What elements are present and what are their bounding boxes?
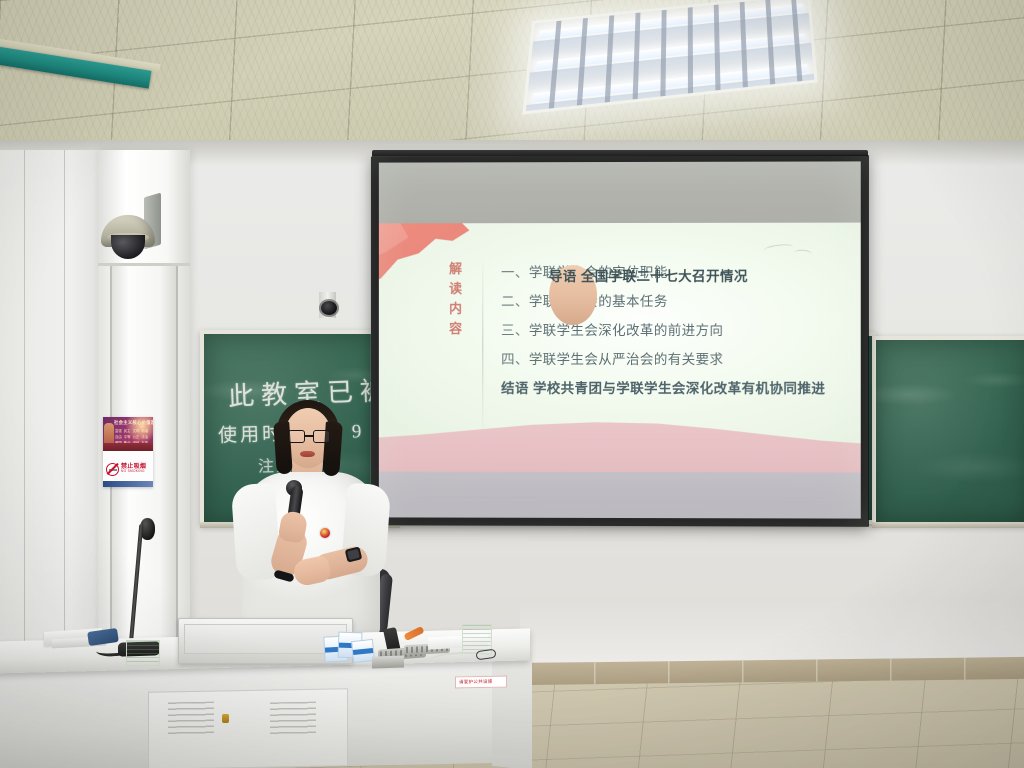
glasses-lens-left (288, 430, 305, 443)
wall-lower-highlight (520, 600, 1024, 662)
chalk-tray (872, 522, 1024, 528)
mouth (300, 451, 315, 457)
no-smoking-icon (106, 463, 119, 476)
core-value-word: 文明 (133, 428, 140, 433)
presenter (236, 400, 386, 650)
podium-lock[interactable] (222, 714, 229, 723)
side-label-char: 读 (449, 283, 462, 296)
core-values-poster: 社会主义核心价值观 富强 民主 文明 和谐 自由 平等 公正 法治 爱国 敬业 (103, 417, 153, 451)
presentation-slide: 解 读 内 容 导语 全国学联二十七大召开情况 一、学联学生会的定位职能 二、学… (379, 222, 861, 472)
wall-security-camera (316, 292, 342, 322)
chalk-box-stripe (353, 648, 373, 655)
podium-side-panel (492, 646, 532, 768)
slide-item-number: 三、 (501, 323, 529, 338)
classroom-scene: 社会主义核心价值观 富强 民主 文明 和谐 自由 平等 公正 法治 爱国 敬业 (0, 0, 1024, 768)
wall-sign-board: 社会主义核心价值观 富强 民主 文明 和谐 自由 平等 公正 法治 爱国 敬业 (103, 417, 153, 487)
core-values-row: 富强 民主 文明 和谐 (115, 428, 152, 433)
core-value-word: 和谐 (141, 428, 148, 433)
slide-item-text: 学联学生会深化改革的前进方向 (529, 323, 724, 338)
core-value-word: 法治 (141, 434, 148, 439)
camera-lens (321, 301, 337, 315)
slide-bird-stroke (762, 243, 793, 255)
screen-canvas: 解 读 内 容 导语 全国学联二十七大召开情况 一、学联学生会的定位职能 二、学… (379, 161, 861, 518)
side-label-char: 内 (449, 302, 462, 315)
no-smoking-en: NO SMOKING (121, 470, 146, 473)
left-wall (0, 150, 100, 670)
podium-warning-text: 请爱护公共设施 (459, 679, 493, 686)
no-smoking-sign: 禁止吸烟 NO SMOKING (103, 451, 153, 487)
podium-vent-right (270, 702, 316, 737)
poster-base-band (103, 443, 153, 451)
wall-seam (64, 150, 65, 650)
podium-vent-left (168, 702, 214, 737)
blackboard-right (872, 336, 1024, 526)
poster-footer-band (103, 481, 153, 487)
slide-heading: 导语 全国学联二十七大召开情况 (549, 265, 597, 325)
slide-closing: 结语 学校共青团与学联学生会深化改革有机协同推进 (501, 377, 846, 397)
eyeglasses-icon (288, 430, 330, 443)
slide-outline-list: 导语 全国学联二十七大召开情况 一、学联学生会的定位职能 二、学联学生会的基本任… (501, 257, 846, 447)
dome-security-camera (101, 209, 157, 261)
pillar-edge (176, 266, 178, 650)
wall-seam (24, 150, 25, 660)
core-value-word: 民主 (124, 428, 131, 433)
slide-item: 四、学联学生会从严治会的有关要求 (501, 348, 846, 368)
slide-divider-line (482, 263, 483, 432)
glasses-bridge (305, 435, 313, 437)
core-value-word: 自由 (115, 434, 122, 439)
core-value-word: 平等 (124, 434, 131, 439)
party-emblem-badge (320, 528, 330, 538)
grey-box-device[interactable] (372, 655, 404, 668)
desk-calendar-left[interactable] (126, 640, 160, 666)
slide-item-number: 一、 (501, 265, 529, 280)
side-label-char: 容 (449, 322, 462, 335)
glasses-lens-right (313, 430, 330, 443)
slide-side-label: 解 读 内 容 (436, 263, 474, 427)
slide-item: 三、学联学生会深化改革的前进方向 (501, 319, 846, 339)
slide-item-number: 二、 (501, 294, 529, 309)
core-values-row: 自由 平等 公正 法治 (115, 434, 152, 439)
slide-item-text: 学联学生会从严治会的有关要求 (529, 352, 724, 367)
side-label-char: 解 (449, 263, 462, 276)
no-smoking-text: 禁止吸烟 NO SMOKING (121, 464, 146, 474)
chalk-smudge (876, 340, 1024, 522)
core-value-word: 富强 (115, 428, 122, 433)
core-values-title: 社会主义核心价值观 (114, 420, 153, 426)
core-value-word: 公正 (133, 434, 140, 439)
screen-unused-band (379, 161, 861, 223)
slide-item-number: 四、 (501, 352, 529, 367)
screen-lower-band (379, 471, 861, 518)
camera-lens-dome (111, 235, 145, 259)
projection-screen: 解 读 内 容 导语 全国学联二十七大召开情况 一、学联学生会的定位职能 二、学… (371, 155, 869, 526)
podium-warning-label: 请爱护公共设施 (455, 676, 507, 689)
